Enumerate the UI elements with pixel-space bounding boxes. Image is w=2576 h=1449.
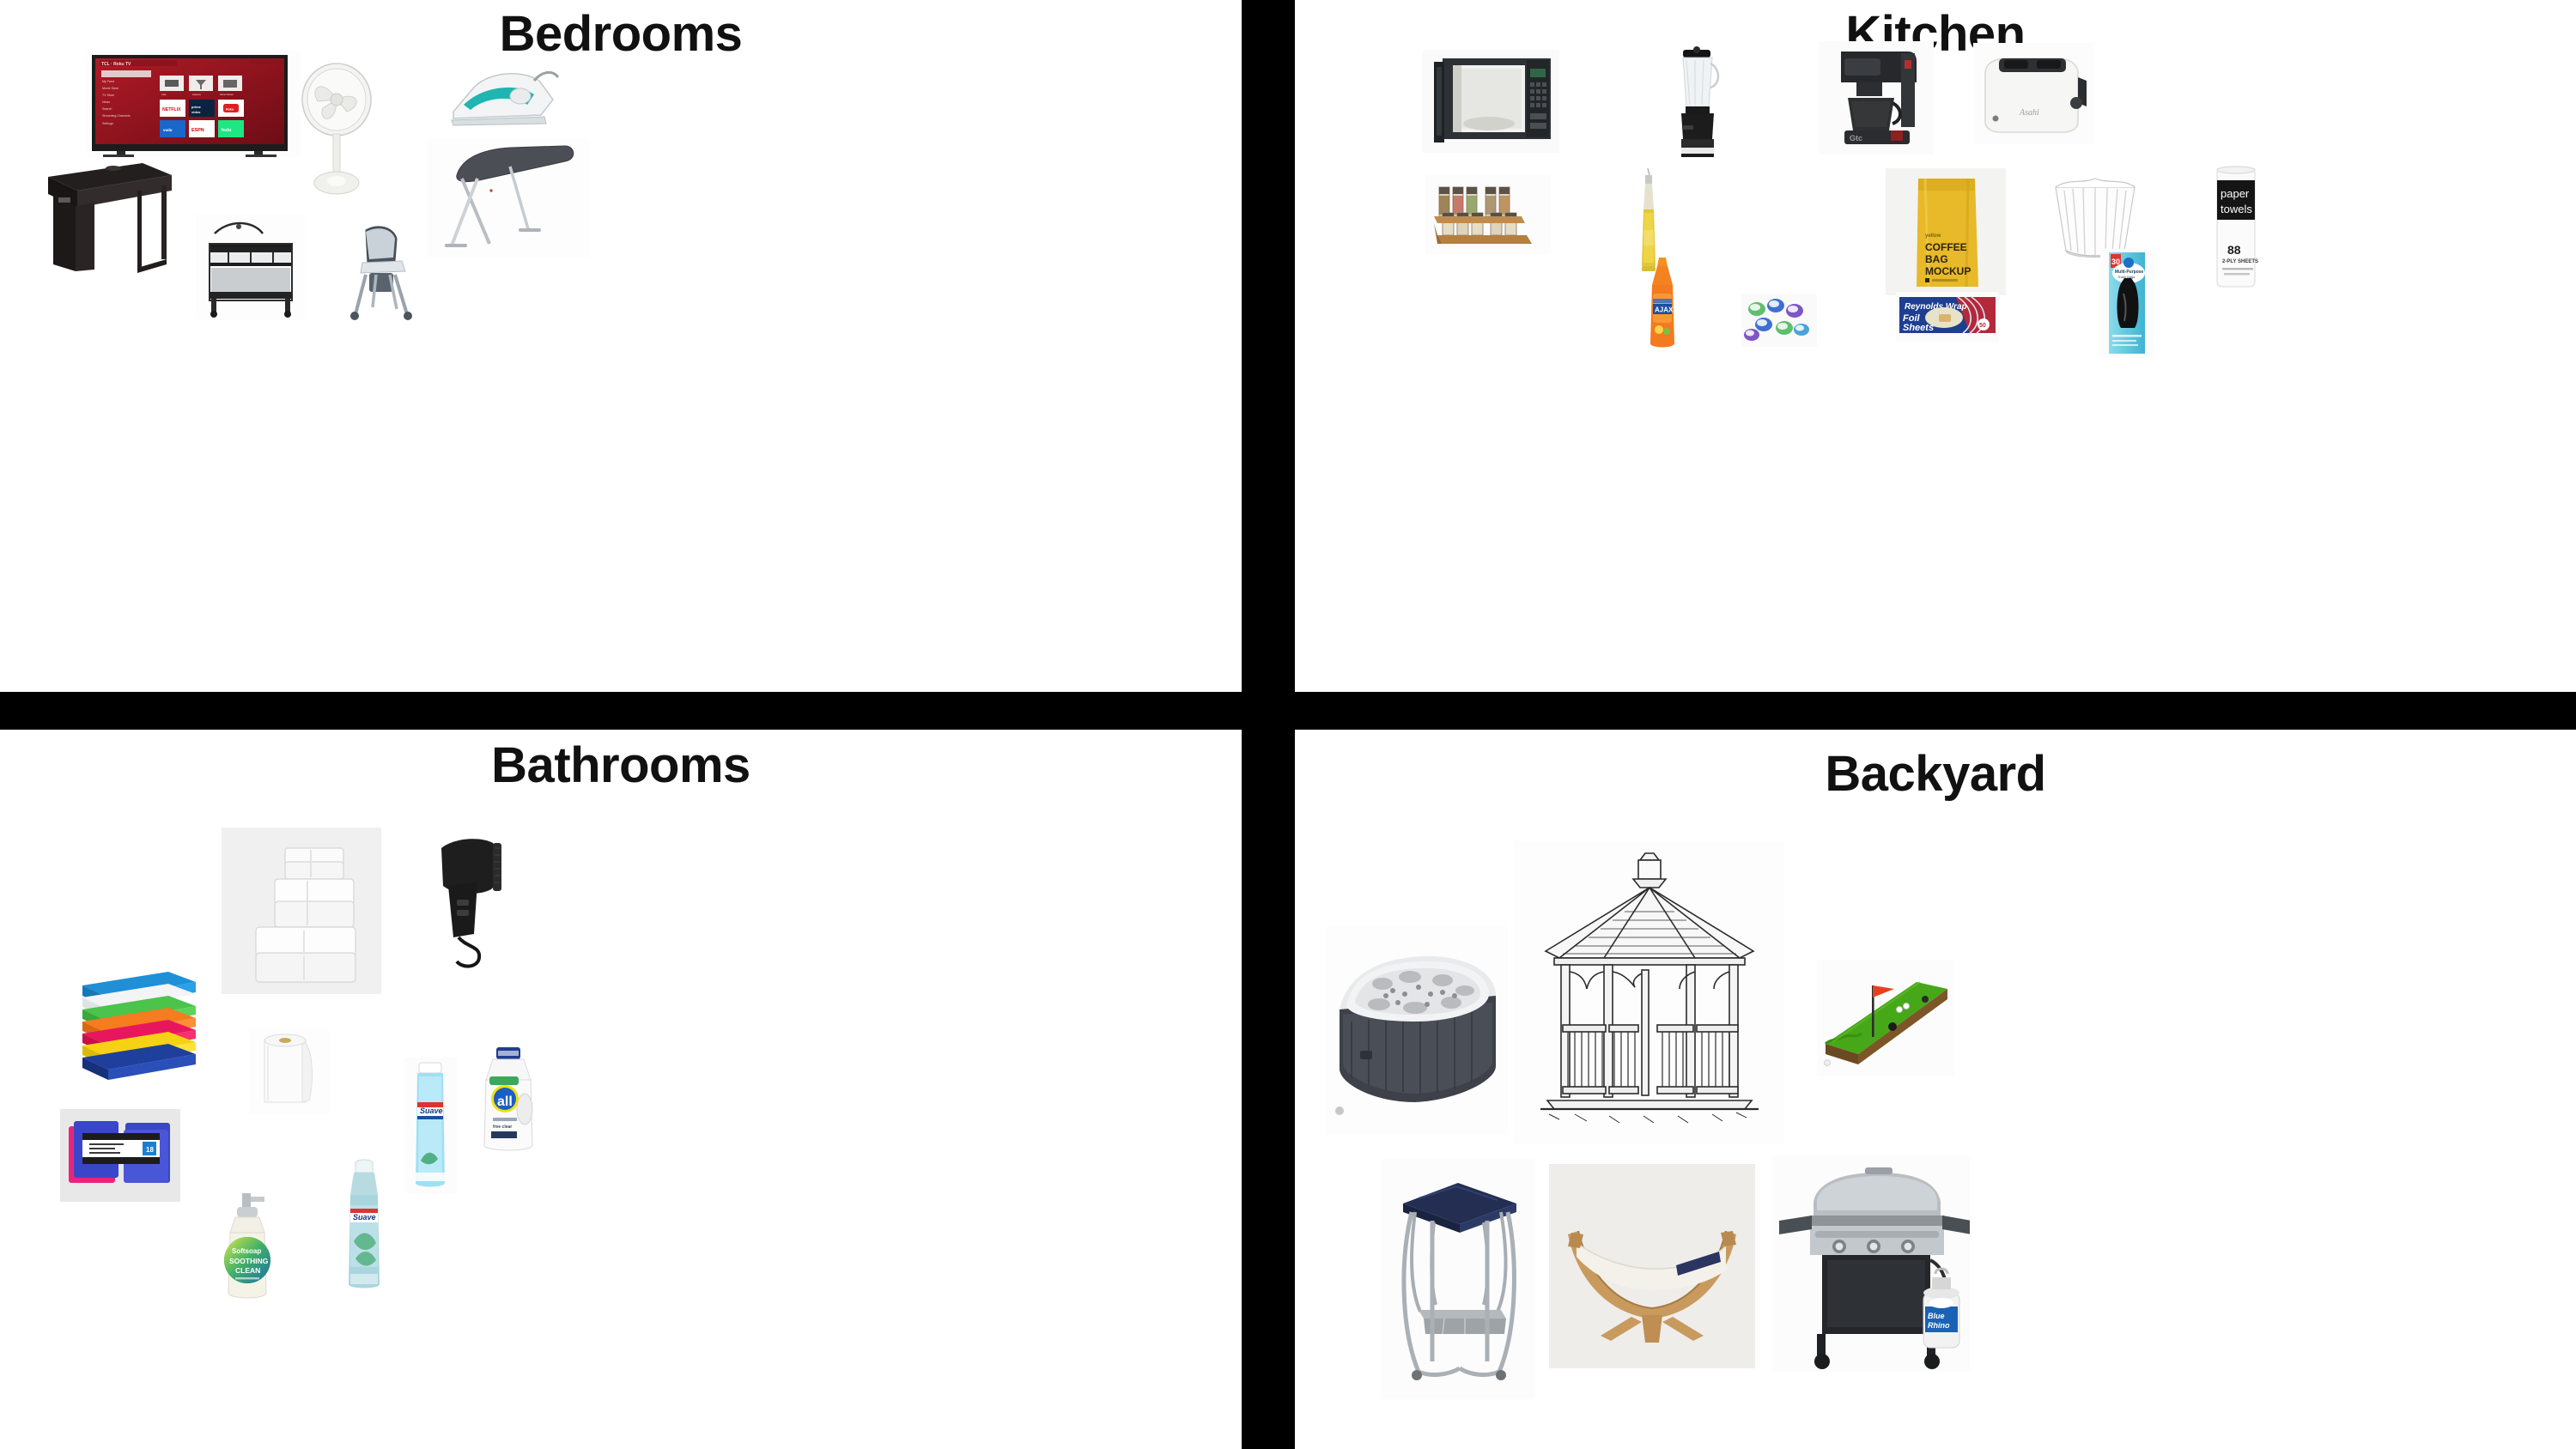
paper-towels-line1: paper [2221, 187, 2250, 200]
coffee-bag-line2: BAG [1925, 253, 1948, 265]
item-shampoo-bottle: Suave [404, 1058, 457, 1193]
panel-title-bathrooms: Bathrooms [0, 737, 1242, 794]
item-spice-rack [1425, 175, 1551, 254]
hand-soap-line2: CLEAN [235, 1266, 260, 1275]
item-gas-grill: Blue Rhino [1772, 1155, 1970, 1372]
item-toilet-paper-roll [249, 1028, 330, 1114]
item-dish-soap: AJAX [1638, 256, 1686, 352]
item-gazebo [1515, 841, 1784, 1143]
panel-title-backyard: Backyard [1295, 745, 2576, 803]
svg-text:Asahi: Asahi [2019, 108, 2039, 118]
svg-text:My Feed: My Feed [102, 80, 114, 83]
item-pedestal-fan [283, 58, 395, 206]
panel-bathrooms: Bathrooms [0, 730, 1242, 1449]
svg-text:prime: prime [191, 105, 202, 109]
item-putting-green [1817, 960, 1954, 1076]
item-hand-soap: Softsoap SOOTHING CLEAN [215, 1191, 283, 1303]
foil-line2: Sheets [1903, 323, 1934, 333]
svg-text:Antenna: Antenna [192, 93, 201, 96]
coffee-maker-brand: Gtc [1850, 134, 1862, 142]
item-porch-swing [1381, 1159, 1535, 1399]
svg-text:vudu: vudu [163, 128, 173, 132]
body-wash-brand: Suave [353, 1213, 376, 1222]
washcloth-count: 18 [146, 1146, 154, 1154]
paper-towels-sheets: 2-PLY SHEETS [2222, 259, 2258, 264]
item-blender [1662, 43, 1733, 158]
dish-soap-brand: AJAX [1655, 306, 1674, 314]
item-white-towel-set [222, 828, 381, 994]
svg-text:Settings: Settings [102, 122, 113, 125]
item-ironing-board [428, 137, 589, 258]
item-high-chair [340, 221, 422, 323]
svg-text:TCL · Roku TV: TCL · Roku TV [101, 62, 131, 67]
room-supplies-poster: Bedrooms TCL · Roku TV My Feed Movie S [0, 0, 2576, 1449]
propane-brand-line2: Rhino [1928, 1321, 1950, 1330]
shampoo-brand: Suave [420, 1106, 443, 1115]
panel-kitchen: Kitchen [1295, 0, 2576, 692]
svg-text:Roku: Roku [226, 108, 234, 112]
item-clothes-iron [438, 52, 567, 137]
svg-text:Cast: Cast [161, 93, 167, 96]
svg-text:video: video [191, 110, 201, 114]
hand-soap-brand: Softsoap [232, 1247, 261, 1255]
item-pack-n-play-crib [196, 215, 306, 319]
item-aluminum-foil: Reynolds Wrap Foil Sheets 50 [1896, 292, 1999, 342]
svg-text:Streaming Channels: Streaming Channels [102, 114, 131, 118]
svg-text:Home Screen: Home Screen [220, 93, 234, 96]
item-writing-desk [41, 144, 177, 282]
item-hammock [1549, 1164, 1755, 1368]
item-laundry-detergent: all free clear [477, 1046, 541, 1155]
item-trash-bags: 30 Multi-Purpose Trash Bags [2100, 249, 2154, 357]
item-hot-tub [1326, 925, 1508, 1135]
item-microwave-oven [1422, 50, 1559, 153]
panel-backyard: Backyard [1295, 730, 2576, 1449]
panel-bedrooms: Bedrooms TCL · Roku TV My Feed Movie S [0, 0, 1242, 692]
paper-towels-line2: towels [2221, 203, 2252, 215]
paper-towels-count: 88 [2227, 243, 2241, 257]
svg-text:TV Store: TV Store [102, 94, 114, 97]
svg-text:NETFLIX: NETFLIX [162, 107, 181, 112]
detergent-variant: free clear [493, 1125, 512, 1130]
item-hair-dryer [419, 833, 513, 975]
propane-brand-line1: Blue [1928, 1312, 1945, 1320]
foil-count: 50 [1979, 323, 1986, 329]
item-paper-towels: paper towels 88 2-PLY SHEETS [2205, 163, 2265, 292]
coffee-bag-line1: COFFEE [1925, 241, 1967, 253]
svg-text:Movie Store: Movie Store [102, 87, 118, 90]
item-colored-towel-stack [67, 960, 210, 1087]
svg-text:News: News [102, 100, 110, 104]
coffee-bag-line3: MOCKUP [1925, 265, 1971, 277]
svg-text:Search: Search [102, 107, 112, 111]
divider-vertical [1242, 0, 1295, 1449]
item-washcloth-pack: 18 [60, 1109, 180, 1202]
coffee-bag-brand: yellow [1925, 233, 1941, 239]
item-body-wash-bottle: Suave [340, 1157, 388, 1294]
item-coffee-bag: yellow COFFEE BAG MOCKUP [1886, 168, 2006, 295]
svg-text:hulu: hulu [222, 128, 231, 133]
item-toaster: Asahi [1973, 43, 2093, 144]
hand-soap-line1: SOOTHING [229, 1257, 269, 1265]
svg-text:ESPN: ESPN [191, 128, 204, 133]
item-dishwasher-pods [1741, 294, 1817, 347]
item-flat-screen-tv: TCL · Roku TV My Feed Movie Store TV Sto… [86, 50, 301, 157]
item-coffee-maker: Gtc [1819, 41, 1934, 155]
detergent-brand: all [497, 1094, 513, 1109]
